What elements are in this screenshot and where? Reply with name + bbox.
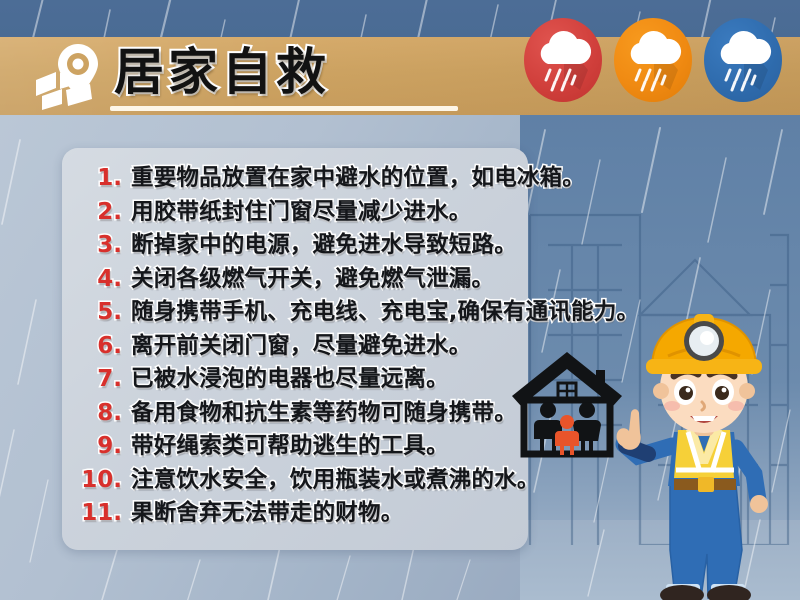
list-item-number: 7. bbox=[72, 366, 122, 392]
rain-cloud-badge-blue[interactable] bbox=[704, 18, 782, 102]
list-item-number: 5. bbox=[72, 299, 122, 325]
list-item-text: 备用食物和抗生素等药物可随身携带。 bbox=[131, 395, 517, 427]
list-item-number: 1. bbox=[72, 165, 122, 191]
list-item-number: 10. bbox=[72, 467, 122, 493]
list-item-text: 带好绳索类可帮助逃生的工具。 bbox=[131, 428, 449, 460]
poster: 居家自救 bbox=[0, 0, 800, 600]
list-item: 4.关闭各级燃气开关，避免燃气泄漏。 bbox=[72, 261, 712, 295]
list-item-text: 注意饮水安全，饮用瓶装水或煮沸的水。 bbox=[131, 462, 540, 494]
list-item: 2.用胶带纸封住门窗尽量减少进水。 bbox=[72, 194, 712, 228]
rain-cloud-icon bbox=[614, 18, 692, 102]
rain-cloud-icon bbox=[524, 18, 602, 102]
list-item-text: 果断舍弃无法带走的财物。 bbox=[131, 495, 403, 527]
list-item: 3.断掉家中的电源，避免进水导致短路。 bbox=[72, 227, 712, 261]
title-underline bbox=[110, 106, 458, 111]
list-item-text: 用胶带纸封住门窗尽量减少进水。 bbox=[131, 194, 472, 226]
map-pin-icon bbox=[34, 42, 112, 110]
construction-worker-character bbox=[608, 296, 798, 600]
weather-badges bbox=[524, 18, 792, 102]
list-item-number: 6. bbox=[72, 333, 122, 359]
list-item-text: 关闭各级燃气开关，避免燃气泄漏。 bbox=[131, 261, 494, 293]
list-item-number: 9. bbox=[72, 433, 122, 459]
list-item-text: 随身携带手机、充电线、充电宝,确保有通讯能力。 bbox=[131, 294, 639, 326]
list-item-number: 11. bbox=[72, 500, 122, 526]
rain-cloud-icon bbox=[704, 18, 782, 102]
list-item-text: 重要物品放置在家中避水的位置，如电冰箱。 bbox=[131, 160, 585, 192]
list-item-number: 3. bbox=[72, 232, 122, 258]
list-item-text: 离开前关闭门窗，尽量避免进水。 bbox=[131, 328, 472, 360]
page-title: 居家自救 bbox=[114, 40, 330, 104]
rain-cloud-badge-red[interactable] bbox=[524, 18, 602, 102]
list-item: 1.重要物品放置在家中避水的位置，如电冰箱。 bbox=[72, 160, 712, 194]
list-item-number: 4. bbox=[72, 266, 122, 292]
list-item-text: 已被水浸泡的电器也尽量远离。 bbox=[131, 361, 449, 393]
rain-cloud-badge-orange[interactable] bbox=[614, 18, 692, 102]
list-item-text: 断掉家中的电源，避免进水导致短路。 bbox=[131, 227, 517, 259]
list-item-number: 8. bbox=[72, 400, 122, 426]
list-item-number: 2. bbox=[72, 199, 122, 225]
